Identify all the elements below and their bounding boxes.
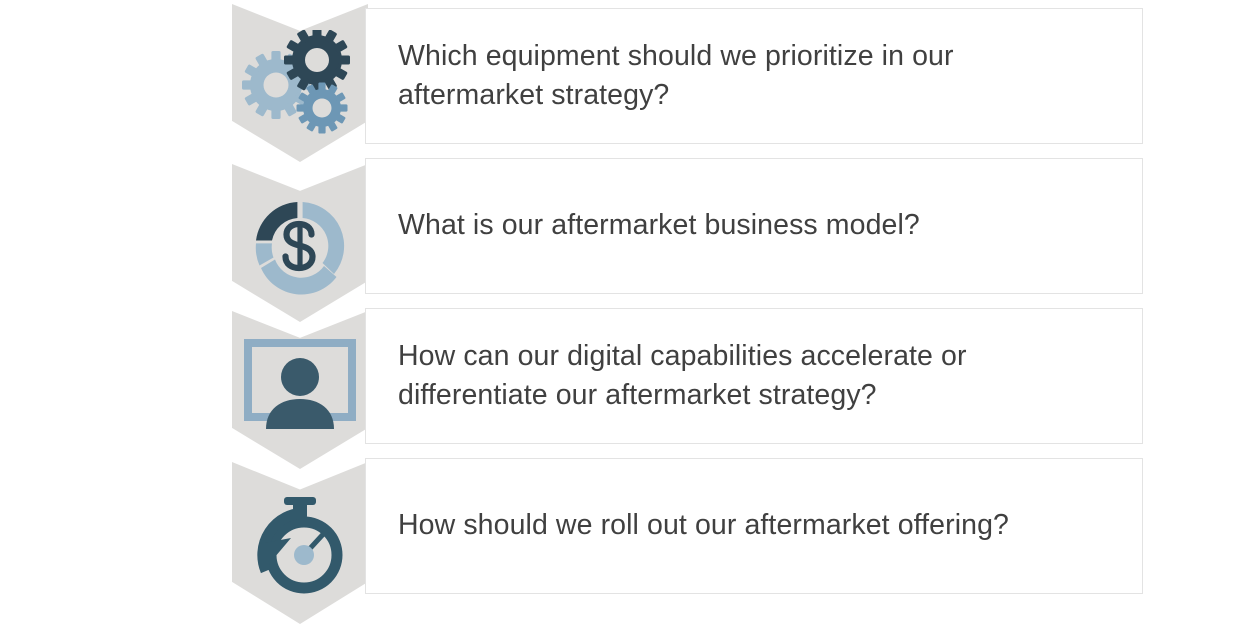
chevron-badge-3 [232,311,368,469]
question-text-3: How can our digital capabilities acceler… [366,337,993,416]
stopwatch-refresh-icon [247,494,353,603]
chevron-badge-1 [232,4,368,162]
donut-chart-dollar-icon [248,194,352,303]
question-text-4: How should we roll out our aftermarket o… [366,506,1035,545]
question-card-3[interactable]: How can our digital capabilities acceler… [365,308,1143,444]
monitor-person-icon [244,339,356,438]
question-card-4[interactable]: How should we roll out our aftermarket o… [365,458,1143,594]
question-card-1[interactable]: Which equipment should we prioritize in … [365,8,1143,144]
question-card-2[interactable]: What is our aftermarket business model? [365,158,1143,294]
chevron-badge-2 [232,164,368,322]
chevron-badge-4 [232,462,368,624]
question-text-2: What is our aftermarket business model? [366,206,946,245]
slide-canvas: Which equipment should we prioritize in … [0,0,1260,634]
gears-icon [241,30,359,139]
question-text-1: Which equipment should we prioritize in … [366,37,980,116]
